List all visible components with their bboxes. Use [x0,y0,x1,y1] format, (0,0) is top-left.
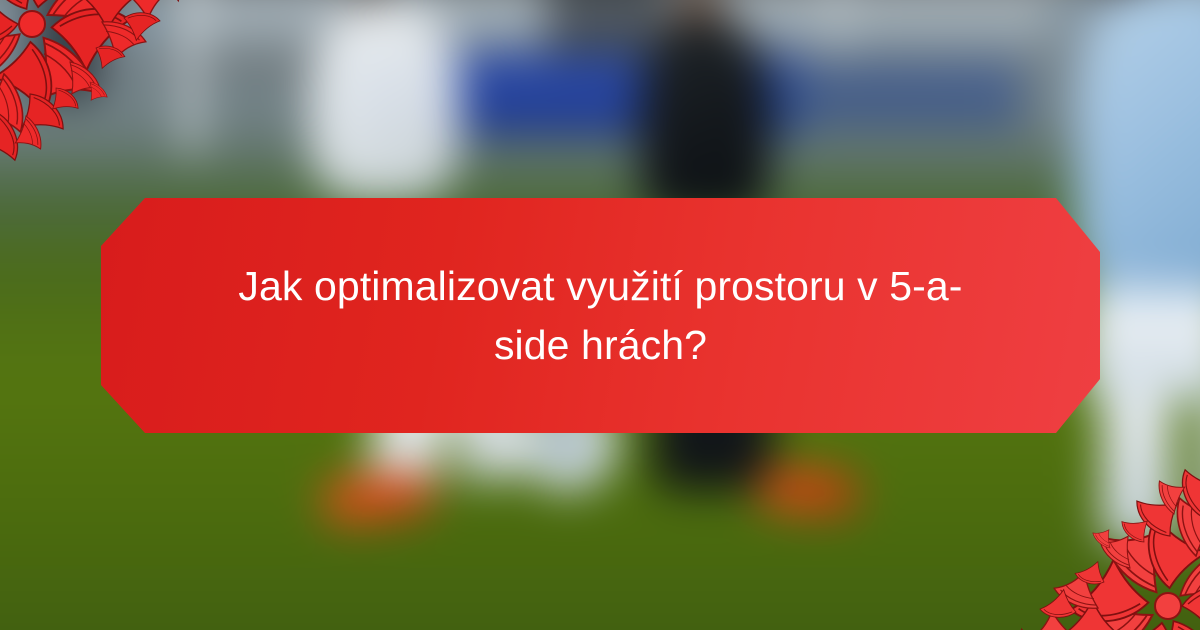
headline-banner: Jak optimalizovat využití prostoru v 5-a… [101,198,1100,433]
player-blue-sock-one [1102,395,1172,545]
stand-dark-panel-left [32,0,102,100]
goal-post-right [831,0,845,60]
stand-dark-panel-center [547,0,667,56]
social-share-card: Jak optimalizovat využití prostoru v 5-a… [0,0,1200,630]
football-boot-right [757,467,860,516]
player-white-kit [310,0,460,200]
page-title: Jak optimalizovat využití prostoru v 5-a… [221,257,981,373]
official-dark-clothing [640,18,770,218]
goal-post-left [184,0,200,155]
blue-pitch-barrier-two [758,60,1022,130]
